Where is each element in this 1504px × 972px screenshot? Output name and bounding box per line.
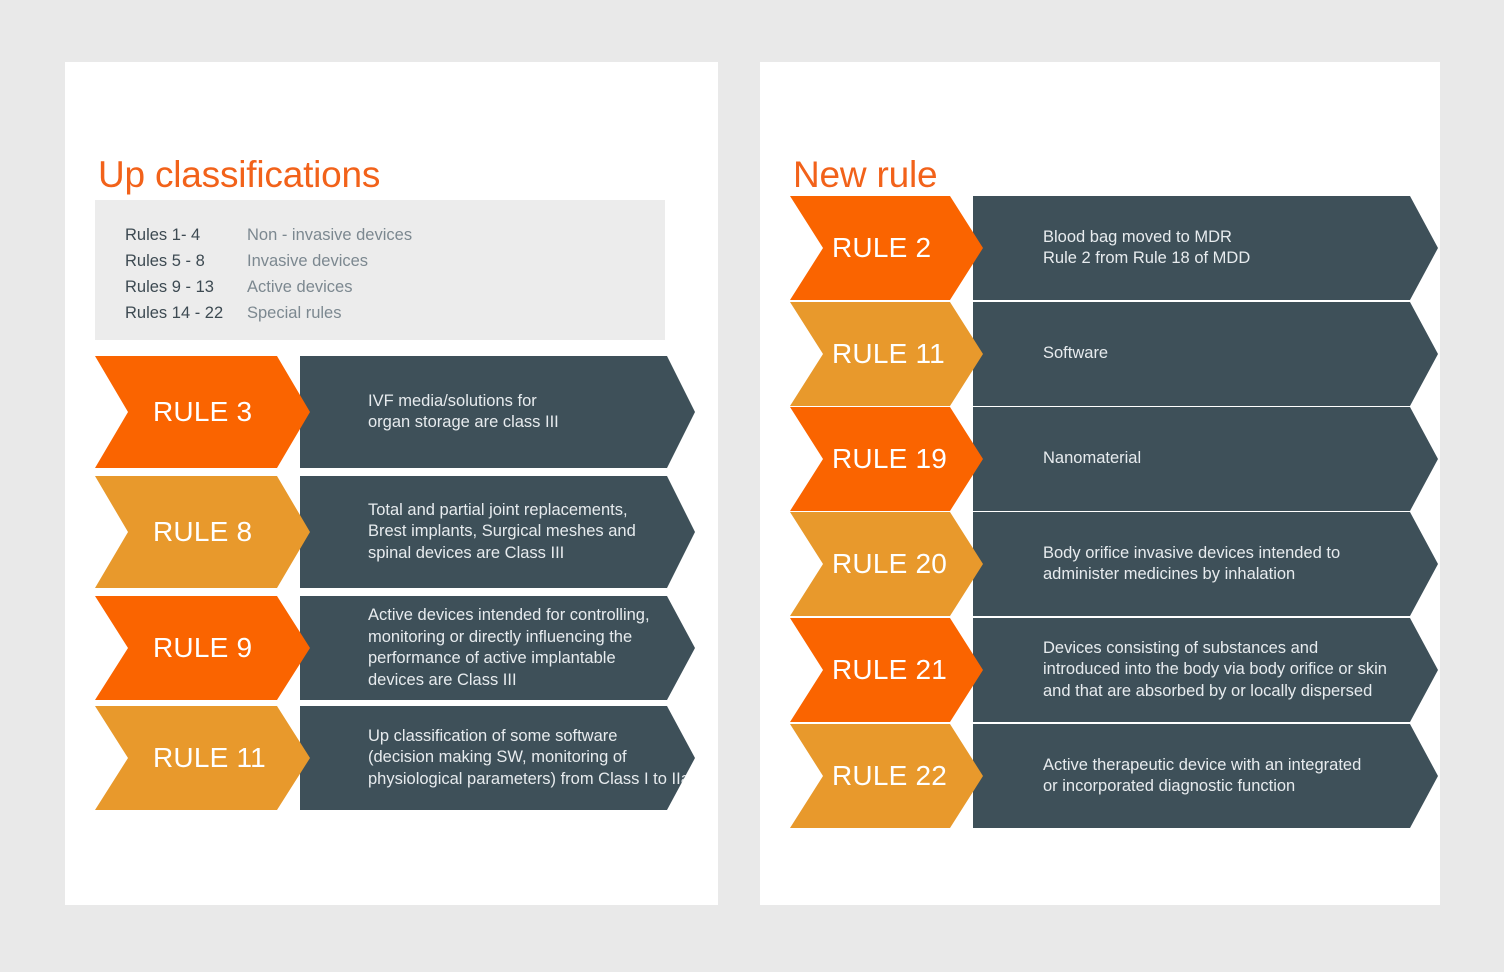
rule-row[interactable]: NanomaterialRULE 19 [790, 407, 1438, 511]
rule-description-block: Devices consisting of substances and int… [973, 618, 1438, 722]
rule-tag-label: RULE 11 [832, 338, 945, 370]
rule-row[interactable]: IVF media/solutions for organ storage ar… [95, 356, 695, 468]
left-rule-list: IVF media/solutions for organ storage ar… [65, 62, 718, 905]
rule-tag-chevron[interactable]: RULE 11 [95, 706, 310, 810]
rule-tag-chevron[interactable]: RULE 8 [95, 476, 310, 588]
rule-tag-label: RULE 19 [832, 443, 947, 475]
up-classifications-panel: Up classifications Rules 1- 4Non - invas… [65, 62, 718, 905]
rule-description-text: IVF media/solutions for organ storage ar… [368, 391, 559, 434]
rule-description-block: Software [973, 302, 1438, 406]
rule-description-text: Software [1043, 343, 1108, 365]
slide-canvas: Up classifications Rules 1- 4Non - invas… [0, 0, 1504, 972]
rule-description-text: Body orifice invasive devices intended t… [1043, 543, 1340, 586]
right-rule-list: Blood bag moved to MDR Rule 2 from Rule … [760, 62, 1440, 905]
rule-description-text: Blood bag moved to MDR Rule 2 from Rule … [1043, 227, 1250, 270]
rule-row[interactable]: Devices consisting of substances and int… [790, 618, 1438, 722]
rule-description-block: Active devices intended for controlling,… [300, 596, 695, 700]
rule-description-block: Total and partial joint replacements, Br… [300, 476, 695, 588]
rule-tag-chevron[interactable]: RULE 2 [790, 196, 983, 300]
rule-description-text: Active therapeutic device with an integr… [1043, 755, 1361, 798]
rule-row[interactable]: Up classification of some software (deci… [95, 706, 695, 810]
rule-row[interactable]: Blood bag moved to MDR Rule 2 from Rule … [790, 196, 1438, 300]
rule-tag-chevron[interactable]: RULE 19 [790, 407, 983, 511]
rule-row[interactable]: Active devices intended for controlling,… [95, 596, 695, 700]
rule-description-text: Nanomaterial [1043, 448, 1141, 470]
rule-tag-chevron[interactable]: RULE 3 [95, 356, 310, 468]
rule-tag-label: RULE 8 [153, 516, 252, 548]
rule-description-block: Body orifice invasive devices intended t… [973, 512, 1438, 616]
rule-description-block: IVF media/solutions for organ storage ar… [300, 356, 695, 468]
rule-tag-chevron[interactable]: RULE 9 [95, 596, 310, 700]
rule-row[interactable]: Active therapeutic device with an integr… [790, 724, 1438, 828]
rule-row[interactable]: Total and partial joint replacements, Br… [95, 476, 695, 588]
rule-description-text: Up classification of some software (deci… [368, 726, 690, 791]
rule-description-text: Total and partial joint replacements, Br… [368, 500, 636, 565]
rule-description-text: Active devices intended for controlling,… [368, 605, 650, 691]
rule-description-block: Blood bag moved to MDR Rule 2 from Rule … [973, 196, 1438, 300]
rule-tag-label: RULE 9 [153, 632, 252, 664]
rule-tag-chevron[interactable]: RULE 22 [790, 724, 983, 828]
rule-tag-label: RULE 2 [832, 232, 931, 264]
rule-tag-chevron[interactable]: RULE 20 [790, 512, 983, 616]
new-rule-panel: New rule Blood bag moved to MDR Rule 2 f… [760, 62, 1440, 905]
rule-tag-label: RULE 20 [832, 548, 947, 580]
rule-description-block: Active therapeutic device with an integr… [973, 724, 1438, 828]
rule-tag-label: RULE 11 [153, 742, 266, 774]
rule-tag-label: RULE 21 [832, 654, 947, 686]
rule-row[interactable]: SoftwareRULE 11 [790, 302, 1438, 406]
rule-description-text: Devices consisting of substances and int… [1043, 638, 1387, 703]
rule-tag-label: RULE 22 [832, 760, 947, 792]
rule-tag-chevron[interactable]: RULE 21 [790, 618, 983, 722]
rule-description-block: Nanomaterial [973, 407, 1438, 511]
rule-description-block: Up classification of some software (deci… [300, 706, 695, 810]
rule-tag-chevron[interactable]: RULE 11 [790, 302, 983, 406]
rule-row[interactable]: Body orifice invasive devices intended t… [790, 512, 1438, 616]
rule-tag-label: RULE 3 [153, 396, 252, 428]
